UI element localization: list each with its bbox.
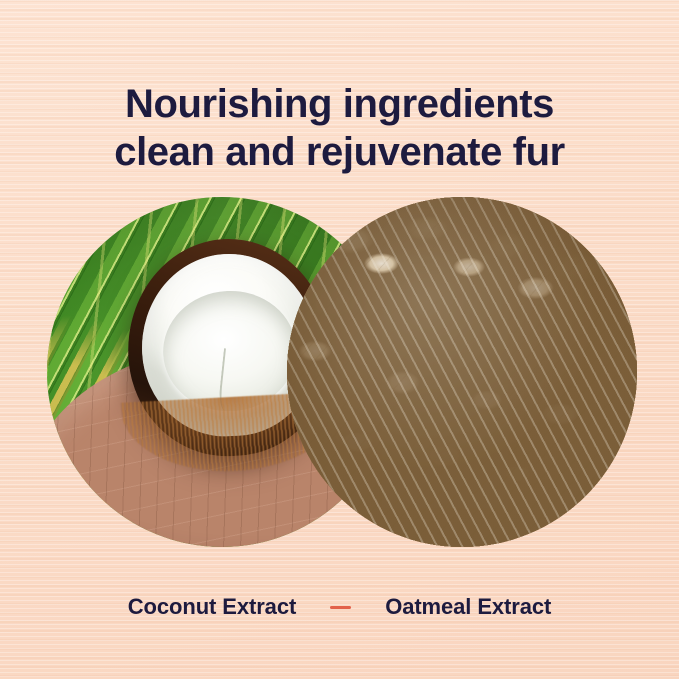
oat-shading <box>287 197 637 547</box>
caption-oatmeal-label: Oatmeal Extract <box>385 594 551 620</box>
page-title: Nourishing ingredients clean and rejuven… <box>0 80 679 176</box>
promo-graphic: Nourishing ingredients clean and rejuven… <box>0 0 679 679</box>
ingredient-caption: Coconut Extract Oatmeal Extract <box>0 594 679 620</box>
caption-coconut-label: Coconut Extract <box>128 594 296 620</box>
caption-separator-dash <box>330 606 351 609</box>
oatmeal-photo <box>287 197 637 547</box>
